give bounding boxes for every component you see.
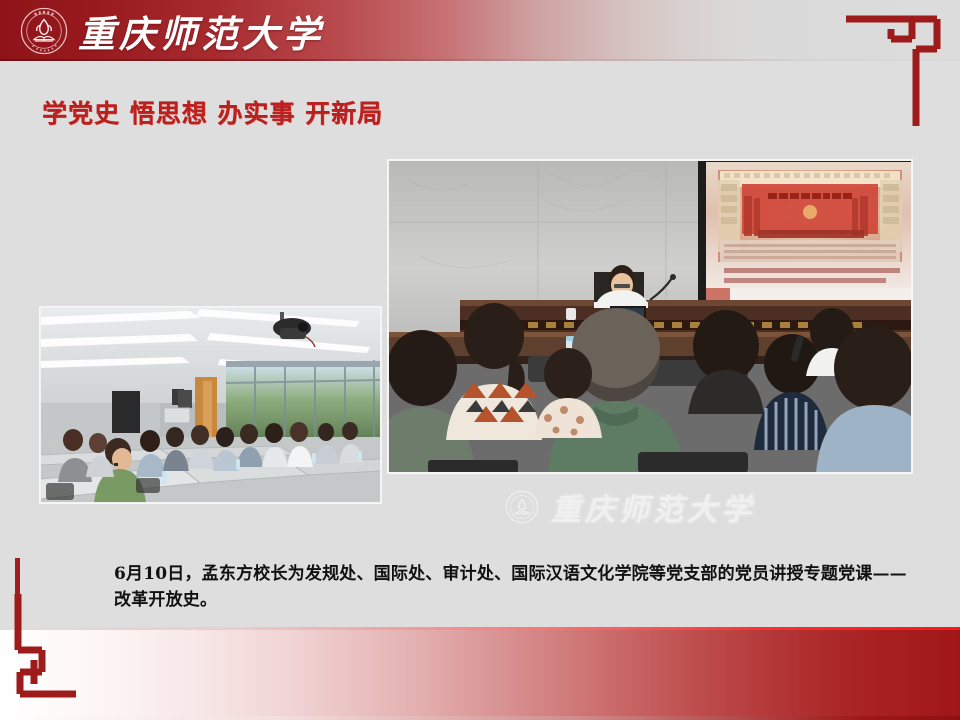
- chinese-meander-corner-icon: [844, 8, 944, 126]
- chinese-meander-corner-icon: [14, 594, 114, 704]
- chongqing-normal-university-seal-icon: [505, 490, 539, 524]
- university-watermark: 重庆师范大学: [505, 485, 795, 529]
- footer-bottom-edge: [0, 716, 960, 720]
- presentation-slide: 重庆师范大学 学党史 悟思想 办实事 开新局: [0, 0, 960, 720]
- watermark-text: 重庆师范大学: [551, 485, 755, 529]
- classroom-audience-photo: [40, 307, 381, 503]
- header-university-name: 重庆师范大学: [78, 6, 324, 56]
- chongqing-normal-university-seal-icon: [20, 7, 68, 55]
- lecture-hall-presenter-photo: [388, 160, 912, 473]
- header-bottom-edge: [0, 59, 960, 61]
- caption-text: 6月10日，孟东方校长为发规处、国际处、审计处、国际汉语文化学院等党支部的党员讲…: [114, 562, 914, 613]
- footer-band: [0, 630, 960, 718]
- page-title: 学党史 悟思想 办实事 开新局: [42, 94, 383, 130]
